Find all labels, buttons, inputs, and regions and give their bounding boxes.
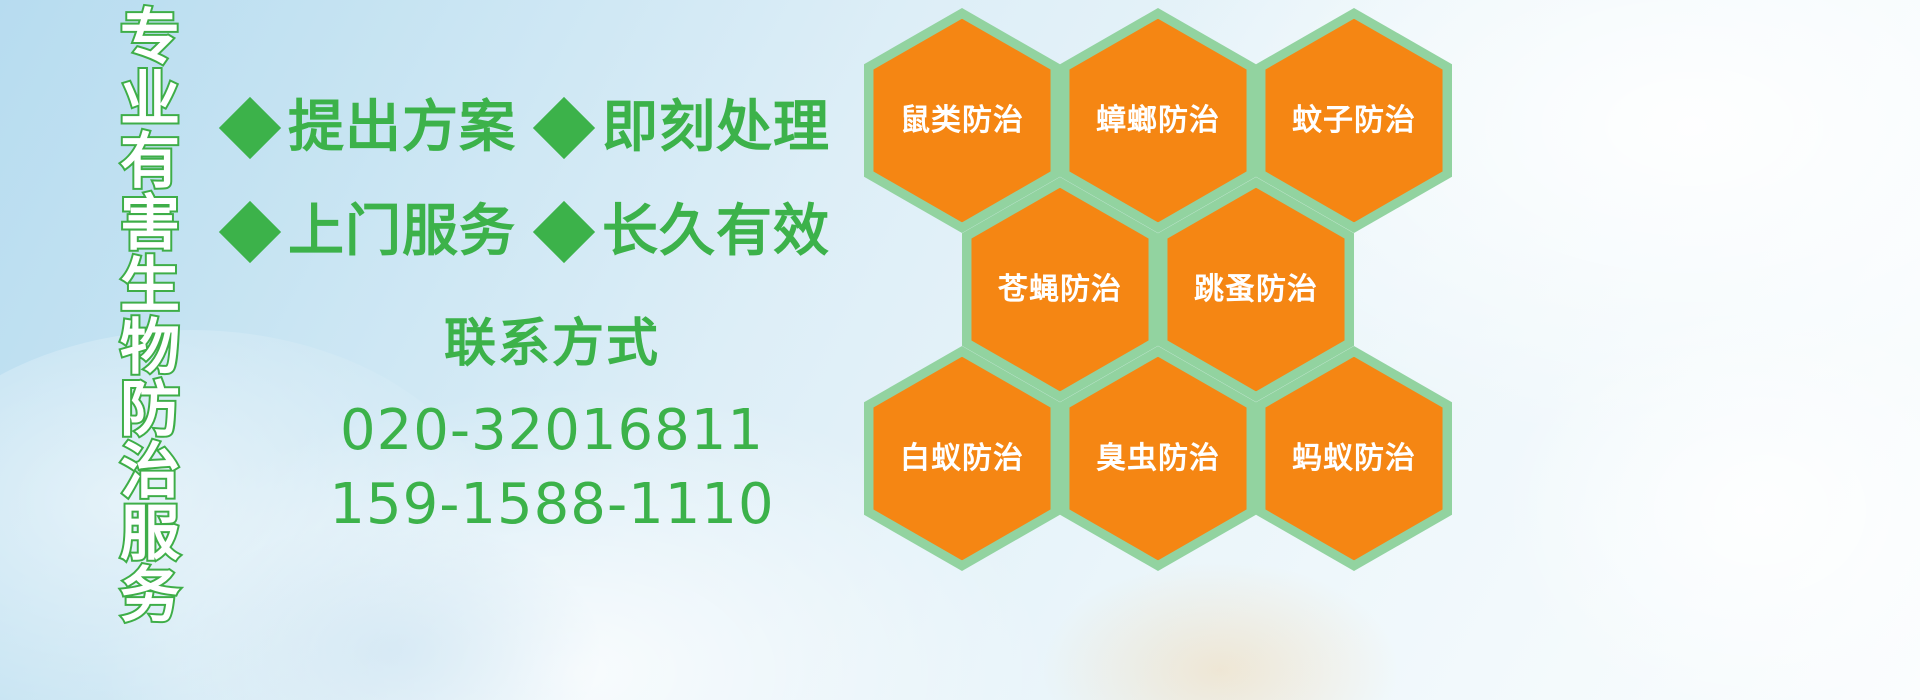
diamond-icon bbox=[533, 97, 595, 159]
feature-item: 上门服务 bbox=[228, 203, 516, 261]
feature-label: 上门服务 bbox=[288, 203, 516, 261]
feature-item: 长久有效 bbox=[542, 203, 830, 261]
headline-char: 治 bbox=[120, 442, 180, 502]
hex-label: 臭虫防治 bbox=[1060, 442, 1256, 476]
headline-char: 业 bbox=[120, 70, 180, 130]
contact-title: 联系方式 bbox=[232, 312, 872, 376]
contact-phone-landline[interactable]: 020-32016811 bbox=[232, 394, 872, 468]
diamond-icon bbox=[219, 97, 281, 159]
hex-label: 跳蚤防治 bbox=[1158, 273, 1354, 307]
feature-list: 提出方案 即刻处理 上门服务 长久有效 bbox=[228, 76, 868, 284]
headline-char: 专 bbox=[120, 8, 180, 68]
background-blob-right bbox=[1500, 300, 1920, 700]
hex-label: 蚂蚁防治 bbox=[1256, 442, 1452, 476]
hex-label: 蚊子防治 bbox=[1256, 104, 1452, 138]
diamond-icon bbox=[533, 201, 595, 263]
hex-label: 苍蝇防治 bbox=[962, 273, 1158, 307]
feature-row: 上门服务 长久有效 bbox=[228, 180, 868, 284]
promo-banner: 专 业 有 害 生 物 防 治 服 务 提出方案 即刻处理 上门服务 bbox=[0, 0, 1920, 700]
feature-row: 提出方案 即刻处理 bbox=[228, 76, 868, 180]
headline-char: 有 bbox=[120, 132, 180, 192]
headline-char: 务 bbox=[120, 566, 180, 626]
hex-cell-ant[interactable]: 蚂蚁防治 bbox=[1256, 346, 1452, 571]
hex-cell-termite[interactable]: 白蚁防治 bbox=[864, 346, 1060, 571]
hex-label: 白蚁防治 bbox=[864, 442, 1060, 476]
hex-label: 蟑螂防治 bbox=[1060, 104, 1256, 138]
feature-label: 长久有效 bbox=[602, 203, 830, 261]
service-honeycomb: 鼠类防治 蟑螂防治 蚊子防治 苍蝇防治 跳蚤防治 白蚁防治 bbox=[856, 0, 1476, 700]
headline-char: 服 bbox=[120, 504, 180, 564]
contact-phone-mobile[interactable]: 159-1588-1110 bbox=[232, 468, 872, 542]
headline-char: 害 bbox=[120, 194, 180, 254]
feature-item: 即刻处理 bbox=[542, 99, 830, 157]
contact-block: 联系方式 020-32016811 159-1588-1110 bbox=[232, 312, 872, 542]
background-blob-bottom-left bbox=[180, 520, 600, 700]
headline-char: 防 bbox=[120, 380, 180, 440]
feature-label: 提出方案 bbox=[288, 99, 516, 157]
headline-char: 物 bbox=[120, 318, 180, 378]
hex-cell-bedbug[interactable]: 臭虫防治 bbox=[1060, 346, 1256, 571]
feature-label: 即刻处理 bbox=[602, 99, 830, 157]
diamond-icon bbox=[219, 201, 281, 263]
vertical-headline: 专 业 有 害 生 物 防 治 服 务 bbox=[104, 8, 196, 568]
feature-item: 提出方案 bbox=[228, 99, 516, 157]
headline-char: 生 bbox=[120, 256, 180, 316]
hex-label: 鼠类防治 bbox=[864, 104, 1060, 138]
